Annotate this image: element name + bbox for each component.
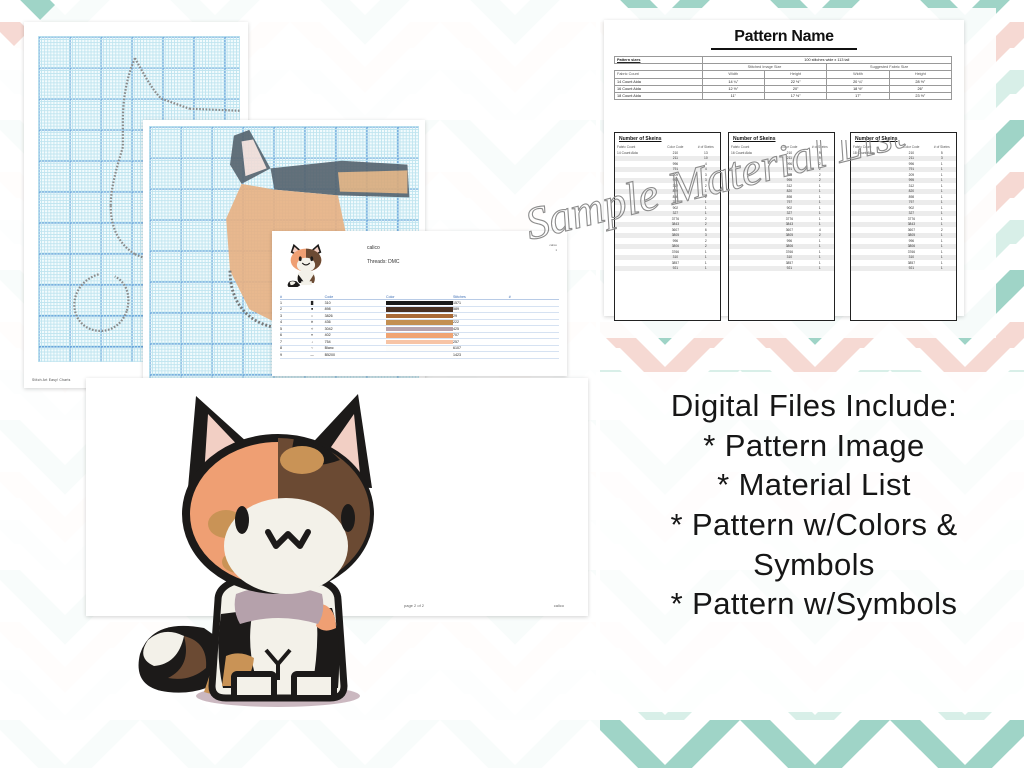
title-underline <box>711 48 857 50</box>
files-item-list: * Pattern Image* Material List* Pattern … <box>612 426 1016 624</box>
legend-title: calico <box>367 245 380 251</box>
skein-row: 9211 <box>729 266 834 272</box>
pattern-sizes-cell: 17 ½" <box>764 92 826 99</box>
pattern-sizes-row: 14 Count Aida14 ¼"22 ½"20 ¼"28 ½" <box>615 78 952 85</box>
col-stitched-width: Width <box>702 71 764 78</box>
pattern-sizes-group-row: Stitched Image Size Suggested Fabric Siz… <box>615 64 952 71</box>
legend-table-body: 1█31015712■8985893○3826294✕4362225✧30424… <box>280 300 559 358</box>
preview-footer-left: page 2 of 2 <box>404 603 424 608</box>
legend-row-stitches: 1423 <box>453 352 509 358</box>
pattern-sizes-cell: 28 ½" <box>889 78 951 85</box>
pattern-sizes-cell: 18 ½" <box>827 85 889 92</box>
files-item: * Pattern Image <box>612 426 1016 466</box>
skein-fabric-cell <box>729 266 773 272</box>
pattern-sizes-cell: 26" <box>889 85 951 92</box>
pattern-sizes-table-wrap: Pattern sizes 100 stitches wide x 113 ta… <box>614 56 952 100</box>
skein-2-heading: Number of Skeins <box>729 133 834 144</box>
col-fabric-count: Fabric Count <box>615 71 703 78</box>
pattern-sizes-cell: 14 ¼" <box>702 78 764 85</box>
group-suggested-fabric-size: Suggested Fabric Size <box>827 64 952 71</box>
skein-row: 9211 <box>615 266 720 272</box>
files-item: * Pattern w/Symbols <box>612 584 1016 624</box>
pattern-sizes-heading-row: Pattern sizes 100 stitches wide x 113 ta… <box>615 57 952 64</box>
files-heading: Digital Files Include: <box>612 386 1016 426</box>
skein-2-table: Fabric Count Color Code # of Skeins 16 C… <box>729 144 834 271</box>
legend-subtitle: Threads: DMC <box>367 259 400 265</box>
col-fabric-width: Width <box>827 71 889 78</box>
legend-table: # Code Color Stitches # 1█31015712■89858… <box>280 294 559 359</box>
skein-code-cell: 921 <box>659 266 692 272</box>
skein-table-16-count[interactable]: Number of Skeins Fabric Count Color Code… <box>728 132 835 321</box>
files-item: * Material List <box>612 465 1016 505</box>
files-item: Symbols <box>612 545 1016 585</box>
skein-table-14-count[interactable]: Number of Skeins Fabric Count Color Code… <box>614 132 721 321</box>
digital-files-block: Digital Files Include: * Pattern Image* … <box>612 386 1016 624</box>
skein-count-cell: 1 <box>806 266 834 272</box>
skein-1-heading: Number of Skeins <box>615 133 720 144</box>
symbol-sheet-footer-left: Stitch Art Easy! Charts <box>32 378 71 382</box>
material-list-page[interactable]: Pattern Name Pattern sizes 100 stitches … <box>604 20 964 316</box>
skein-count-cell: 1 <box>928 266 956 272</box>
pattern-sizes-column-row: Fabric Count Width Height Width Height <box>615 71 952 78</box>
skein-1-body: 14 Count Aida210132111099647914209399533… <box>615 150 720 271</box>
legend-corner-page: 1 <box>555 248 557 252</box>
pattern-sizes-cell: 16 Count Aida <box>615 85 703 92</box>
skein-2-body: 16 Count Aida210921199962791220929952312… <box>729 150 834 271</box>
preview-footer-right: calico <box>554 603 564 608</box>
skein-count-cell: 1 <box>692 266 720 272</box>
pattern-sizes-table: Pattern sizes 100 stitches wide x 113 ta… <box>614 56 952 100</box>
pattern-preview-page[interactable]: page 2 of 2 calico <box>86 378 588 616</box>
thread-legend-page[interactable]: calico Threads: DMC calico 1 # Code Colo… <box>272 231 567 376</box>
skein-row: 9211 <box>851 266 956 272</box>
pattern-sizes-cell: 12 ½" <box>702 85 764 92</box>
pattern-sizes-cell: 17" <box>827 92 889 99</box>
group-stitched-image-size: Stitched Image Size <box>702 64 827 71</box>
legend-row-symbol: — <box>300 352 325 358</box>
pattern-sizes-cell: 22 ½" <box>764 78 826 85</box>
skein-table-18-count[interactable]: Number of Skeins Fabric Count Color Code… <box>850 132 957 321</box>
pattern-sizes-cell: 18 Count Aida <box>615 92 703 99</box>
skein-fabric-cell <box>615 266 659 272</box>
pattern-sizes-group-blank <box>615 64 703 71</box>
pattern-sizes-row: 18 Count Aida11"17 ½"17"23 ½" <box>615 92 952 99</box>
legend-cat-thumbnail <box>282 241 330 287</box>
skein-3-body: 18 Count Aida210521139961791120919951312… <box>851 150 956 271</box>
skein-3-heading: Number of Skeins <box>851 133 956 144</box>
pattern-sizes-cell: 23 ½" <box>889 92 951 99</box>
legend-corner-name: calico <box>549 243 557 247</box>
pattern-sizes-body: 14 Count Aida14 ¼"22 ½"20 ¼"28 ½"16 Coun… <box>615 78 952 100</box>
legend-row-extra <box>509 352 559 358</box>
pattern-sizes-heading: Pattern sizes <box>615 57 703 64</box>
skein-fabric-cell <box>851 266 895 272</box>
legend-row-swatch <box>386 352 453 358</box>
calico-cat-illustration <box>126 378 426 718</box>
legend-row-no: 9 <box>280 352 300 358</box>
legend-table-wrap: # Code Color Stitches # 1█31015712■89858… <box>280 294 559 359</box>
skein-3-table: Fabric Count Color Code # of Skeins 18 C… <box>851 144 956 271</box>
skein-1-table: Fabric Count Color Code # of Skeins 14 C… <box>615 144 720 271</box>
pattern-sizes-row: 16 Count Aida12 ½"20"18 ½"26" <box>615 85 952 92</box>
legend-corner-label: calico 1 <box>549 243 557 252</box>
pattern-name-title: Pattern Name <box>604 28 964 46</box>
pattern-sizes-cell: 14 Count Aida <box>615 78 703 85</box>
col-fabric-height: Height <box>889 71 951 78</box>
legend-row-code: B5200 <box>325 352 386 358</box>
pattern-sizes-cell: 20 ¼" <box>827 78 889 85</box>
skein-code-cell: 921 <box>773 266 806 272</box>
skein-code-cell: 921 <box>895 266 928 272</box>
pattern-sizes-cell: 20" <box>764 85 826 92</box>
col-stitched-height: Height <box>764 71 826 78</box>
legend-row: 9—B52001423 <box>280 352 559 358</box>
pattern-sizes-cell: 11" <box>702 92 764 99</box>
files-item: * Pattern w/Colors & <box>612 505 1016 545</box>
pattern-sizes-note: 100 stitches wide x 113 tall <box>702 57 951 64</box>
